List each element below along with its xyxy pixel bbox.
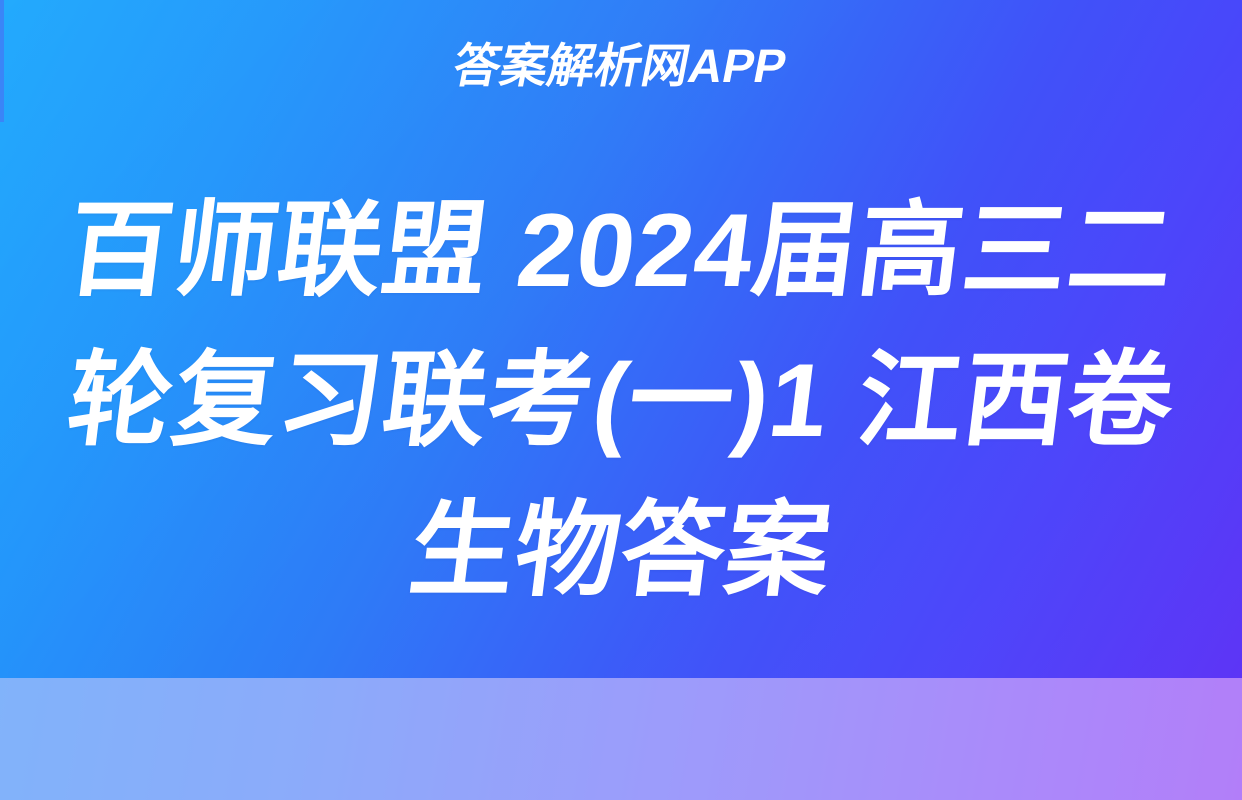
footer-banner: [0, 678, 1242, 800]
title-line-1: 百师联盟 2024届高三二: [0, 176, 1242, 326]
footer-wash-overlay: [0, 678, 1242, 800]
page-title: 百师联盟 2024届高三二 轮复习联考(一)1 江西卷 生物答案: [0, 176, 1242, 626]
title-line-3: 生物答案: [0, 476, 1242, 626]
footer-brand-row: 答案解析网APP: [0, 0, 1242, 122]
title-line-2: 轮复习联考(一)1 江西卷: [0, 326, 1242, 476]
cover-screen: 百师联盟 2024届高三二 轮复习联考(一)1 江西卷 生物答案 答案解析网AP…: [0, 0, 1242, 800]
footer-brand-label: 答案解析网APP: [448, 27, 793, 96]
